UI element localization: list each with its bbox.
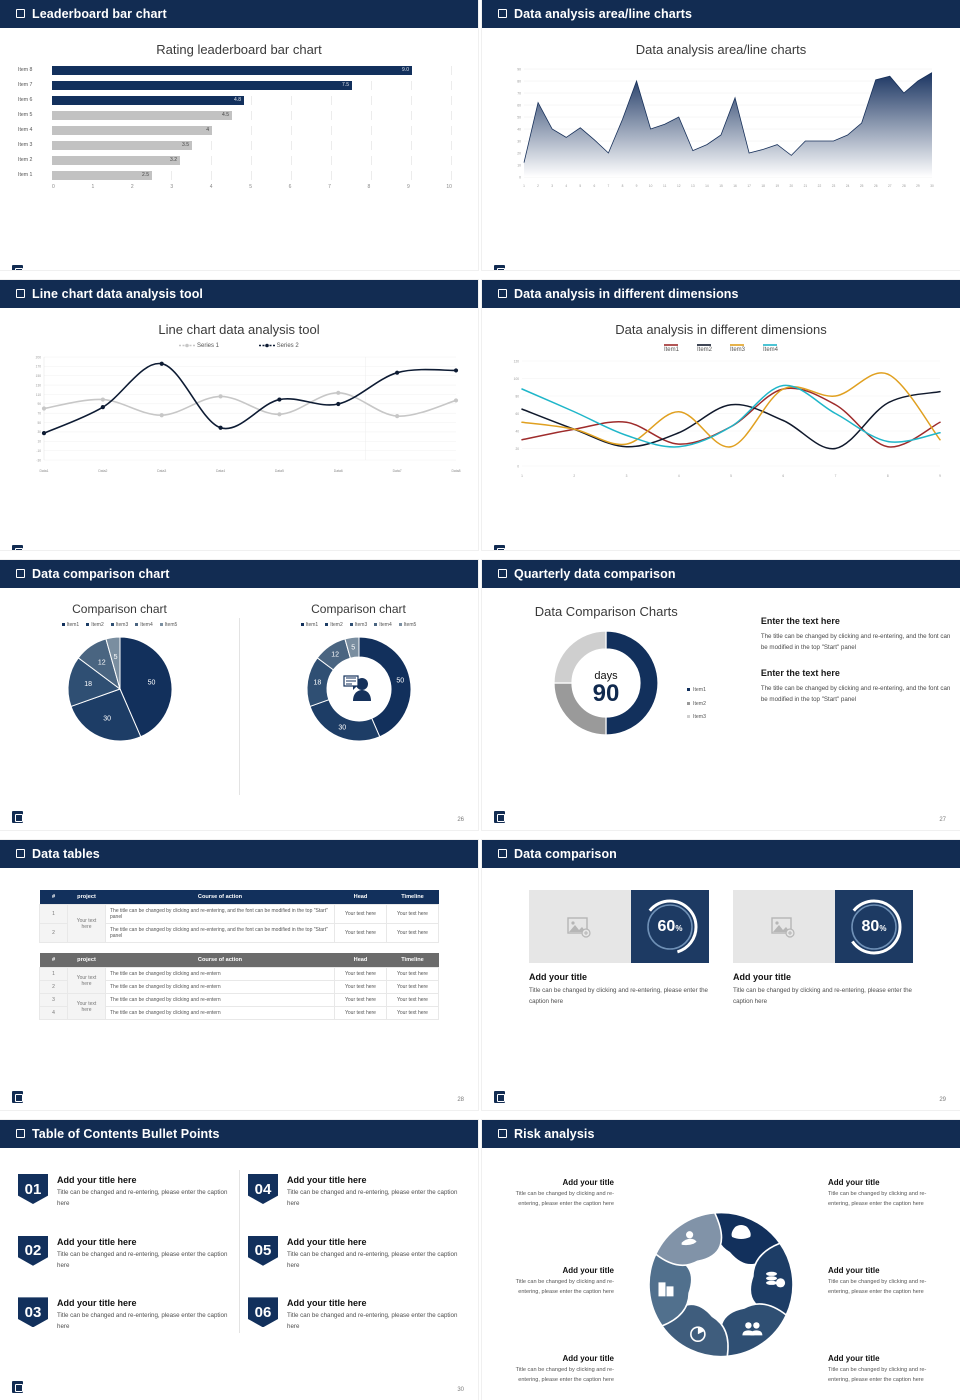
- legend-item[interactable]: Item3: [350, 622, 368, 628]
- x-axis-tick: 7: [835, 474, 837, 478]
- column-header: Course of action: [106, 890, 335, 905]
- data-point[interactable]: [101, 405, 105, 409]
- slide-toc-bullet-points: Table of Contents Bullet Points 01Add yo…: [0, 1120, 478, 1400]
- toc-item-title: Add your title here: [57, 1298, 230, 1308]
- y-axis-tick: 130: [36, 383, 42, 387]
- card-body: Title can be changed by clicking and re-…: [733, 985, 913, 1007]
- slide-header: Data comparison chart: [0, 560, 478, 588]
- percent-value: 60: [658, 918, 676, 935]
- series-line: [522, 385, 940, 447]
- legend-item[interactable]: Item3: [687, 711, 706, 725]
- bar[interactable]: 4.5: [52, 111, 232, 120]
- slide-header-title: Leaderboard bar chart: [32, 7, 167, 21]
- pie-chart: 503018125: [0, 632, 239, 747]
- legend-item[interactable]: Item5: [160, 622, 178, 628]
- slice-value: 5: [351, 644, 355, 651]
- toc-item[interactable]: 01Add your title hereTitle can be change…: [18, 1174, 230, 1210]
- x-axis-tick: Data4: [216, 469, 225, 473]
- line-chart-svg: 2001701501301109070503010-10-30Data1Data…: [14, 353, 464, 478]
- y-axis-tick: 90: [37, 402, 41, 406]
- legend-swatch-icon: [135, 623, 138, 626]
- slide-header-title: Data analysis in different dimensions: [514, 287, 739, 301]
- slide-header: Leaderboard bar chart: [0, 0, 478, 28]
- risk-item[interactable]: Add your titleTitle can be changed by cl…: [494, 1178, 614, 1209]
- data-point[interactable]: [101, 398, 105, 402]
- bar-label: Item 7: [18, 82, 52, 88]
- bar-label: Item 8: [18, 67, 52, 73]
- bar-track: 7.5: [52, 81, 452, 90]
- donut-legend: Item1Item2Item3: [687, 684, 706, 725]
- head-cell: Your text here: [335, 905, 387, 924]
- toc-item[interactable]: 06Add your title hereTitle can be change…: [248, 1297, 460, 1333]
- slide-body: 60% Add your title Title can be changed …: [482, 868, 960, 1110]
- bar[interactable]: 7.5: [52, 81, 352, 90]
- bar-value: 2.5: [142, 172, 149, 178]
- legend-swatch-icon: [687, 702, 690, 705]
- legend-item[interactable]: Item3: [111, 622, 129, 628]
- legend-label: Series 1: [197, 343, 219, 349]
- x-axis-tick: 9: [636, 184, 638, 188]
- y-axis-tick: 30: [37, 430, 41, 434]
- bar[interactable]: 9.0: [52, 66, 412, 75]
- legend-label: Item1: [306, 622, 319, 628]
- x-axis-tick: Data1: [39, 469, 48, 473]
- data-point[interactable]: [277, 398, 281, 402]
- data-point[interactable]: [42, 431, 46, 435]
- table-header: #projectCourse of actionHeadTimeline: [40, 890, 439, 905]
- risk-item-body: Title can be changed by clicking and re-…: [494, 1190, 614, 1209]
- chart-legend: Item1 Item2 Item3 Item4: [482, 343, 960, 353]
- legend-label: Item4: [140, 622, 153, 628]
- percent-gauge: 80%: [835, 890, 913, 963]
- x-axis-tick: Data5: [275, 469, 284, 473]
- page-number: 30: [457, 1387, 464, 1393]
- slide-bullet-icon: [16, 9, 25, 18]
- risk-item-title: Add your title: [494, 1266, 614, 1275]
- bar[interactable]: 4.8: [52, 96, 244, 105]
- risk-item-body: Title can be changed by clicking and re-…: [828, 1190, 948, 1209]
- slide-header: Risk analysis: [482, 1120, 960, 1148]
- block-body: The title can be changed by clicking and…: [761, 631, 952, 654]
- x-axis-tick: 4: [565, 184, 567, 188]
- column-header: Timeline: [387, 890, 439, 905]
- bar[interactable]: 3.2: [52, 156, 180, 165]
- axis-tick: 3: [170, 184, 209, 190]
- card-title: Add your title: [529, 972, 709, 982]
- project-cell: Your text here: [68, 994, 106, 1020]
- legend-item[interactable]: Item1: [301, 622, 319, 628]
- bar[interactable]: 3.5: [52, 141, 192, 150]
- toc-number-badge: 03: [18, 1297, 48, 1327]
- data-point[interactable]: [336, 391, 340, 395]
- data-point[interactable]: [454, 368, 458, 372]
- legend-item[interactable]: Item4: [374, 622, 392, 628]
- table-row[interactable]: 1Your text hereThe title can be changed …: [40, 905, 439, 924]
- block-title: Enter the text here: [761, 668, 952, 678]
- x-axis-tick: 11: [663, 184, 667, 188]
- slide-bullet-icon: [498, 289, 507, 298]
- x-axis-tick: 30: [930, 184, 934, 188]
- chart-title: Comparison chart: [239, 602, 478, 616]
- footer-logo-icon: [12, 811, 23, 823]
- legend-item[interactable]: Item1: [664, 343, 679, 353]
- toc-column-right: 04Add your title hereTitle can be change…: [230, 1174, 460, 1359]
- head-cell: Your text here: [335, 924, 387, 943]
- percent-cards: 60% Add your title Title can be changed …: [482, 868, 960, 1007]
- slide-body: #projectCourse of actionHeadTimeline1You…: [0, 868, 478, 1110]
- slide-bullet-icon: [498, 569, 507, 578]
- slide-header: Line chart data analysis tool: [0, 280, 478, 308]
- slide-quarterly-data-comparison: Quarterly data comparison Data Compariso…: [482, 560, 960, 830]
- data-point[interactable]: [160, 413, 164, 417]
- course-cell: The title can be changed by clicking and…: [106, 981, 335, 994]
- data-point[interactable]: [454, 398, 458, 402]
- card-media: 80%: [733, 890, 913, 963]
- bar-track: 4.5: [52, 111, 452, 120]
- row-index: 2: [40, 924, 68, 943]
- block-body: The title can be changed by clicking and…: [761, 683, 952, 706]
- legend-item[interactable]: Item2: [325, 622, 343, 628]
- toc-item-title: Add your title here: [287, 1175, 460, 1185]
- data-point[interactable]: [395, 371, 399, 375]
- legend-swatch-icon: [325, 623, 328, 626]
- head-cell: Your text here: [335, 968, 387, 981]
- column-divider: [239, 1170, 240, 1333]
- slide-header: Table of Contents Bullet Points: [0, 1120, 478, 1148]
- x-axis-tick: 25: [860, 184, 864, 188]
- y-axis-tick: 40: [515, 429, 519, 433]
- slide-deck: Leaderboard bar chart Rating leaderboard…: [0, 0, 960, 1400]
- table-body: 1Your text hereThe title can be changed …: [40, 905, 439, 943]
- y-axis-tick: 10: [517, 164, 521, 168]
- legend-item[interactable]: Item5: [399, 622, 417, 628]
- y-axis-tick: 200: [36, 355, 42, 359]
- slide-body: 31 Add your titleTitle can be changed by…: [482, 1148, 960, 1400]
- legend-item[interactable]: Item3: [730, 343, 745, 353]
- y-axis-tick: 50: [517, 116, 521, 120]
- data-point[interactable]: [395, 414, 399, 418]
- axis-tick: 7: [328, 184, 367, 190]
- donut-slice[interactable]: [310, 700, 380, 741]
- slide-header-title: Line chart data analysis tool: [32, 287, 203, 301]
- risk-item-title: Add your title: [494, 1178, 614, 1187]
- slide-header: Data tables: [0, 840, 478, 868]
- x-axis-tick: 20: [790, 184, 794, 188]
- x-axis-tick: 4: [678, 474, 680, 478]
- legend-item[interactable]: Item1: [62, 622, 80, 628]
- slide-data-comparison-percent: Data comparison: [482, 840, 960, 1110]
- slide-header-title: Risk analysis: [514, 1127, 595, 1141]
- x-axis-tick: 14: [705, 184, 709, 188]
- risk-item-title: Add your title: [828, 1354, 948, 1363]
- legend-item[interactable]: Item4: [763, 343, 778, 353]
- bar-row: Item 12.5: [18, 168, 452, 182]
- footer-logo-icon: [494, 545, 505, 550]
- data-point[interactable]: [218, 394, 222, 398]
- percent-card: 60% Add your title Title can be changed …: [529, 890, 709, 1007]
- toc-columns: 01Add your title hereTitle can be change…: [0, 1148, 478, 1359]
- legend-swatch-icon: [374, 623, 377, 626]
- slice-value: 5: [113, 654, 117, 661]
- project-cell: Your text here: [68, 905, 106, 943]
- data-point[interactable]: [336, 402, 340, 406]
- chart-title: Data analysis area/line charts: [482, 42, 960, 57]
- column-header: Timeline: [387, 953, 439, 968]
- risk-item[interactable]: Add your titleTitle can be changed by cl…: [828, 1266, 948, 1297]
- bar-label: Item 3: [18, 142, 52, 148]
- bar-label: Item 6: [18, 97, 52, 103]
- y-axis-tick: 60: [517, 104, 521, 108]
- y-axis-tick: -10: [36, 449, 41, 453]
- column-header: project: [68, 953, 106, 968]
- slide-data-comparison-chart: Data comparison chart Comparison chart I…: [0, 560, 478, 830]
- multi-line-chart-svg: 020406080100120123456789: [496, 357, 946, 482]
- slide-risk-analysis: Risk analysis 31 Add your titleTitle can…: [482, 1120, 960, 1400]
- legend-swatch-icon: [111, 623, 114, 626]
- table-row[interactable]: 3Your text hereThe title can be changed …: [40, 994, 439, 1007]
- bar-chart: Item 89.0Item 77.5Item 64.8Item 54.5Item…: [0, 63, 478, 190]
- bar-row: Item 54.5: [18, 108, 452, 122]
- risk-item[interactable]: Add your titleTitle can be changed by cl…: [828, 1354, 948, 1385]
- toc-item-body: Title can be changed and re-entering, pl…: [57, 1311, 230, 1333]
- legend-label: Item1: [664, 347, 679, 353]
- chart-title: Data analysis in different dimensions: [482, 322, 960, 337]
- presenter-icon: [344, 676, 371, 701]
- legend-item[interactable]: Item1: [687, 684, 706, 698]
- chart-title: Data Comparison Charts: [482, 604, 731, 619]
- legend-item[interactable]: Item2: [687, 698, 706, 712]
- y-axis-tick: 40: [517, 128, 521, 132]
- toc-item-title: Add your title here: [57, 1237, 230, 1247]
- pie-column: Comparison chart Item1Item2Item3Item4Ite…: [0, 588, 239, 830]
- slice-value: 50: [147, 679, 155, 686]
- x-axis-tick: 3: [626, 474, 628, 478]
- x-axis-tick: 5: [730, 474, 732, 478]
- slice-value: 12: [331, 651, 339, 658]
- toc-item-body: Title can be changed and re-entering, pl…: [57, 1250, 230, 1272]
- pinwheel-segment[interactable]: [720, 1304, 786, 1356]
- page-number: 29: [939, 1097, 946, 1103]
- head-cell: Your text here: [335, 981, 387, 994]
- slide-bullet-icon: [16, 569, 25, 578]
- head-cell: Your text here: [335, 994, 387, 1007]
- image-placeholder[interactable]: [529, 890, 631, 963]
- series-line: [522, 392, 940, 449]
- comparison-columns: Comparison chart Item1Item2Item3Item4Ite…: [0, 588, 478, 830]
- slide-header-title: Data comparison chart: [32, 567, 170, 581]
- bar-track: 3.2: [52, 156, 452, 165]
- page-number: 28: [457, 1097, 464, 1103]
- slide-bullet-icon: [16, 289, 25, 298]
- block-title: Enter the text here: [761, 616, 952, 626]
- y-axis-tick: 60: [515, 412, 519, 416]
- legend-swatch-icon: [179, 343, 195, 348]
- x-axis-tick: 19: [775, 184, 779, 188]
- data-point[interactable]: [277, 412, 281, 416]
- axis-tick: 0: [52, 184, 91, 190]
- pinwheel-svg: [636, 1200, 806, 1370]
- image-placeholder[interactable]: [733, 890, 835, 963]
- data-table-secondary: #projectCourse of actionHeadTimeline1You…: [39, 953, 439, 1020]
- slide-header-title: Data analysis area/line charts: [514, 7, 692, 21]
- slide-different-dimensions: Data analysis in different dimensions Da…: [482, 280, 960, 550]
- row-index: 1: [40, 968, 68, 981]
- x-axis-tick: 6: [782, 474, 784, 478]
- x-axis-tick: 16: [733, 184, 737, 188]
- slide-leaderboard-bar-chart: Leaderboard bar chart Rating leaderboard…: [0, 0, 478, 270]
- risk-pinwheel-diagram: [636, 1200, 806, 1370]
- risk-item[interactable]: Add your titleTitle can be changed by cl…: [494, 1354, 614, 1385]
- tables-container: #projectCourse of actionHeadTimeline1You…: [0, 868, 478, 1020]
- risk-item-body: Title can be changed by clicking and re-…: [494, 1366, 614, 1385]
- data-point[interactable]: [218, 426, 222, 430]
- legend-swatch-icon: [62, 623, 65, 626]
- legend-label: Item3: [355, 622, 368, 628]
- toc-number-badge: 02: [18, 1236, 48, 1266]
- toc-item[interactable]: 03Add your title hereTitle can be change…: [18, 1297, 230, 1333]
- page-number: 27: [939, 817, 946, 823]
- data-table-primary: #projectCourse of actionHeadTimeline1You…: [39, 890, 439, 943]
- slide-header: Data analysis area/line charts: [482, 0, 960, 28]
- risk-item[interactable]: Add your titleTitle can be changed by cl…: [828, 1178, 948, 1209]
- timeline-cell: Your text here: [387, 924, 439, 943]
- x-axis-tick: Data3: [157, 469, 166, 473]
- y-axis-tick: 100: [514, 377, 520, 381]
- risk-item-title: Add your title: [828, 1266, 948, 1275]
- bar-value: 4.8: [234, 97, 241, 103]
- column-header: #: [40, 953, 68, 968]
- data-point[interactable]: [42, 406, 46, 410]
- legend-item[interactable]: Item2: [697, 343, 712, 353]
- data-point[interactable]: [160, 362, 164, 366]
- bar-label: Item 1: [18, 172, 52, 178]
- x-axis-tick: 1: [521, 474, 523, 478]
- y-axis-tick: 20: [517, 152, 521, 156]
- bar-label: Item 5: [18, 112, 52, 118]
- slice-value: 18: [84, 681, 92, 688]
- legend-swatch-icon: [259, 343, 275, 348]
- legend-swatch-icon: [399, 623, 402, 626]
- slide-header-title: Quarterly data comparison: [514, 567, 676, 581]
- pie-legend: Item1Item2Item3Item4Item5: [0, 622, 239, 628]
- risk-item[interactable]: Add your titleTitle can be changed by cl…: [494, 1266, 614, 1297]
- risk-item-body: Title can be changed by clicking and re-…: [828, 1278, 948, 1297]
- bar-track: 4: [52, 126, 452, 135]
- percent-card: 80% Add your title Title can be changed …: [733, 890, 913, 1007]
- axis-tick: 10: [446, 184, 452, 190]
- legend-label: Item4: [379, 622, 392, 628]
- slide-header: Data analysis in different dimensions: [482, 280, 960, 308]
- card-media: 60%: [529, 890, 709, 963]
- x-axis-tick: 1: [523, 184, 525, 188]
- project-cell: Your text here: [68, 968, 106, 994]
- x-axis-tick: 17: [747, 184, 751, 188]
- course-cell: The title can be changed by clicking and…: [106, 968, 335, 981]
- bar-row: Item 89.0: [18, 63, 452, 77]
- slide-body: Data Comparison Charts days90 Item1Item2…: [482, 588, 960, 830]
- legend-label: Item1: [67, 622, 80, 628]
- bar[interactable]: 2.5: [52, 171, 152, 180]
- y-axis-tick: 110: [36, 393, 41, 397]
- text-blocks: Enter the text here The title can be cha…: [761, 616, 952, 720]
- toc-item[interactable]: 02Add your title hereTitle can be change…: [18, 1236, 230, 1272]
- risk-item-body: Title can be changed by clicking and re-…: [494, 1278, 614, 1297]
- bar[interactable]: 4: [52, 126, 212, 135]
- slice-value: 12: [97, 659, 105, 666]
- legend-label: Item3: [730, 347, 745, 353]
- percent-unit: %: [879, 924, 886, 933]
- slide-bullet-icon: [16, 849, 25, 858]
- toc-item[interactable]: 05Add your title hereTitle can be change…: [248, 1236, 460, 1272]
- row-index: 4: [40, 1007, 68, 1020]
- legend-label: Item5: [404, 622, 417, 628]
- row-index: 3: [40, 994, 68, 1007]
- x-axis-tick: 12: [677, 184, 681, 188]
- toc-item[interactable]: 04Add your title hereTitle can be change…: [248, 1174, 460, 1210]
- bar-value: 3.2: [170, 157, 177, 163]
- legend-item[interactable]: Item2: [86, 622, 104, 628]
- donut-center-value: 90: [593, 680, 620, 707]
- bar-value: 4.5: [222, 112, 229, 118]
- column-header: #: [40, 890, 68, 905]
- bar-track: 2.5: [52, 171, 452, 180]
- toc-number-badge: 05: [248, 1236, 278, 1266]
- bar-row: Item 77.5: [18, 78, 452, 92]
- percent-gauge: 60%: [631, 890, 709, 963]
- legend-swatch-icon: [687, 688, 690, 691]
- legend-item[interactable]: Series 2: [259, 343, 299, 349]
- donut-svg: 503018125: [284, 632, 434, 747]
- y-axis-tick: 10: [37, 440, 41, 444]
- page-number: 26: [457, 817, 464, 823]
- legend-label: Item2: [330, 622, 343, 628]
- percent-unit: %: [675, 924, 682, 933]
- y-axis-tick: 170: [36, 365, 42, 369]
- x-axis-tick: 27: [888, 184, 892, 188]
- x-axis-tick: 22: [818, 184, 822, 188]
- table-row[interactable]: 1Your text hereThe title can be changed …: [40, 968, 439, 981]
- y-axis-tick: 150: [36, 374, 42, 378]
- slide-bullet-icon: [498, 1129, 507, 1138]
- row-index: 1: [40, 905, 68, 924]
- image-placeholder-icon: [567, 916, 593, 938]
- slide-header-title: Data tables: [32, 847, 100, 861]
- x-axis-tick: 8: [622, 184, 624, 188]
- course-cell: The title can be changed by clicking and…: [106, 1007, 335, 1020]
- legend-label: Item2: [91, 622, 104, 628]
- footer-logo-icon: [494, 811, 505, 823]
- legend-item[interactable]: Item4: [135, 622, 153, 628]
- y-axis-tick: 70: [37, 412, 41, 416]
- y-axis-tick: 80: [515, 394, 519, 398]
- timeline-cell: Your text here: [387, 981, 439, 994]
- x-axis-tick: Data2: [98, 469, 107, 473]
- bar-row: Item 23.2: [18, 153, 452, 167]
- toc-item-body: Title can be changed and re-entering, pl…: [287, 1188, 460, 1210]
- toc-item-body: Title can be changed and re-entering, pl…: [287, 1250, 460, 1272]
- y-axis-tick: 80: [517, 80, 521, 84]
- toc-item-body: Title can be changed and re-entering, pl…: [287, 1311, 460, 1333]
- legend-item[interactable]: Series 1: [179, 343, 219, 349]
- x-axis-tick: 13: [691, 184, 695, 188]
- axis-tick: 2: [131, 184, 170, 190]
- timeline-cell: Your text here: [387, 968, 439, 981]
- y-axis-tick: 120: [514, 359, 520, 363]
- bar-row: Item 64.8: [18, 93, 452, 107]
- y-axis-tick: 0: [519, 176, 521, 180]
- risk-item-title: Add your title: [494, 1354, 614, 1363]
- x-axis-tick: 28: [902, 184, 906, 188]
